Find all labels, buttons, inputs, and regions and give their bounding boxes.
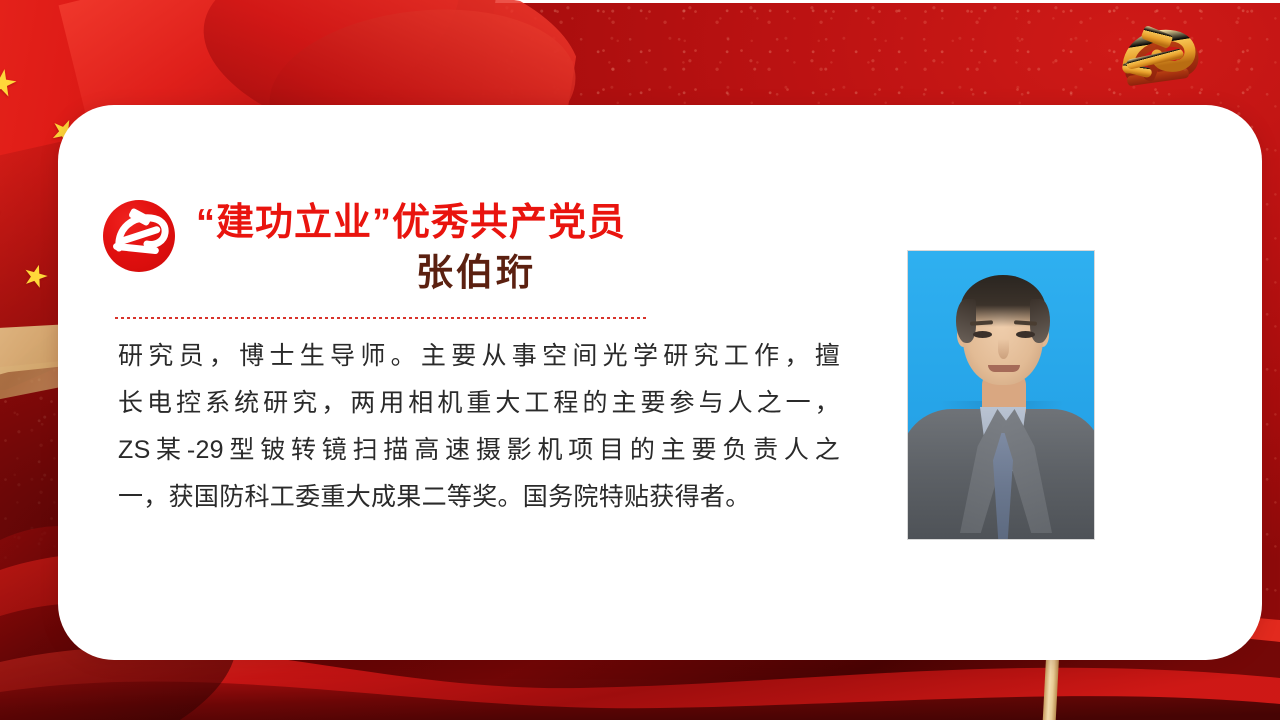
- biography-text: 研究员，博士生导师。主要从事空间光学研究工作，擅 长电控系统研究，两用相机重大工…: [118, 333, 840, 521]
- title-block: “建功立业”优秀共产党员 张伯珩: [196, 199, 756, 295]
- photo-eye-right: [1016, 331, 1035, 338]
- dotted-divider: [115, 317, 647, 319]
- page-title: “建功立业”优秀共产党员: [196, 199, 756, 247]
- biography-line: 一，获国防科工委重大成果二等奖。国务院特贴获得者。: [118, 474, 840, 521]
- person-name: 张伯珩: [196, 251, 756, 295]
- biography-line: 长电控系统研究，两用相机重大工程的主要参与人之一，: [118, 380, 840, 427]
- gold-emblem-svg: [1108, 20, 1218, 112]
- photo-mouth: [988, 365, 1020, 372]
- roundel-emblem-svg: [103, 200, 175, 272]
- content-card: “建功立业”优秀共产党员 张伯珩 研究员，博士生导师。主要从事空间光学研究工作，…: [58, 105, 1262, 660]
- gold-hammer-and-sickle-icon: [1108, 20, 1218, 112]
- portrait-photo: [907, 250, 1095, 540]
- photo-nose: [998, 339, 1009, 359]
- hammer-and-sickle-icon: [103, 200, 175, 272]
- slide-root: ★ ★ ★ ★ ★: [0, 0, 1280, 720]
- biography-line: ZS某-29型铍转镜扫描高速摄影机项目的主要负责人之: [118, 427, 840, 474]
- biography-line: 研究员，博士生导师。主要从事空间光学研究工作，擅: [118, 333, 840, 380]
- photo-eye-left: [973, 331, 992, 338]
